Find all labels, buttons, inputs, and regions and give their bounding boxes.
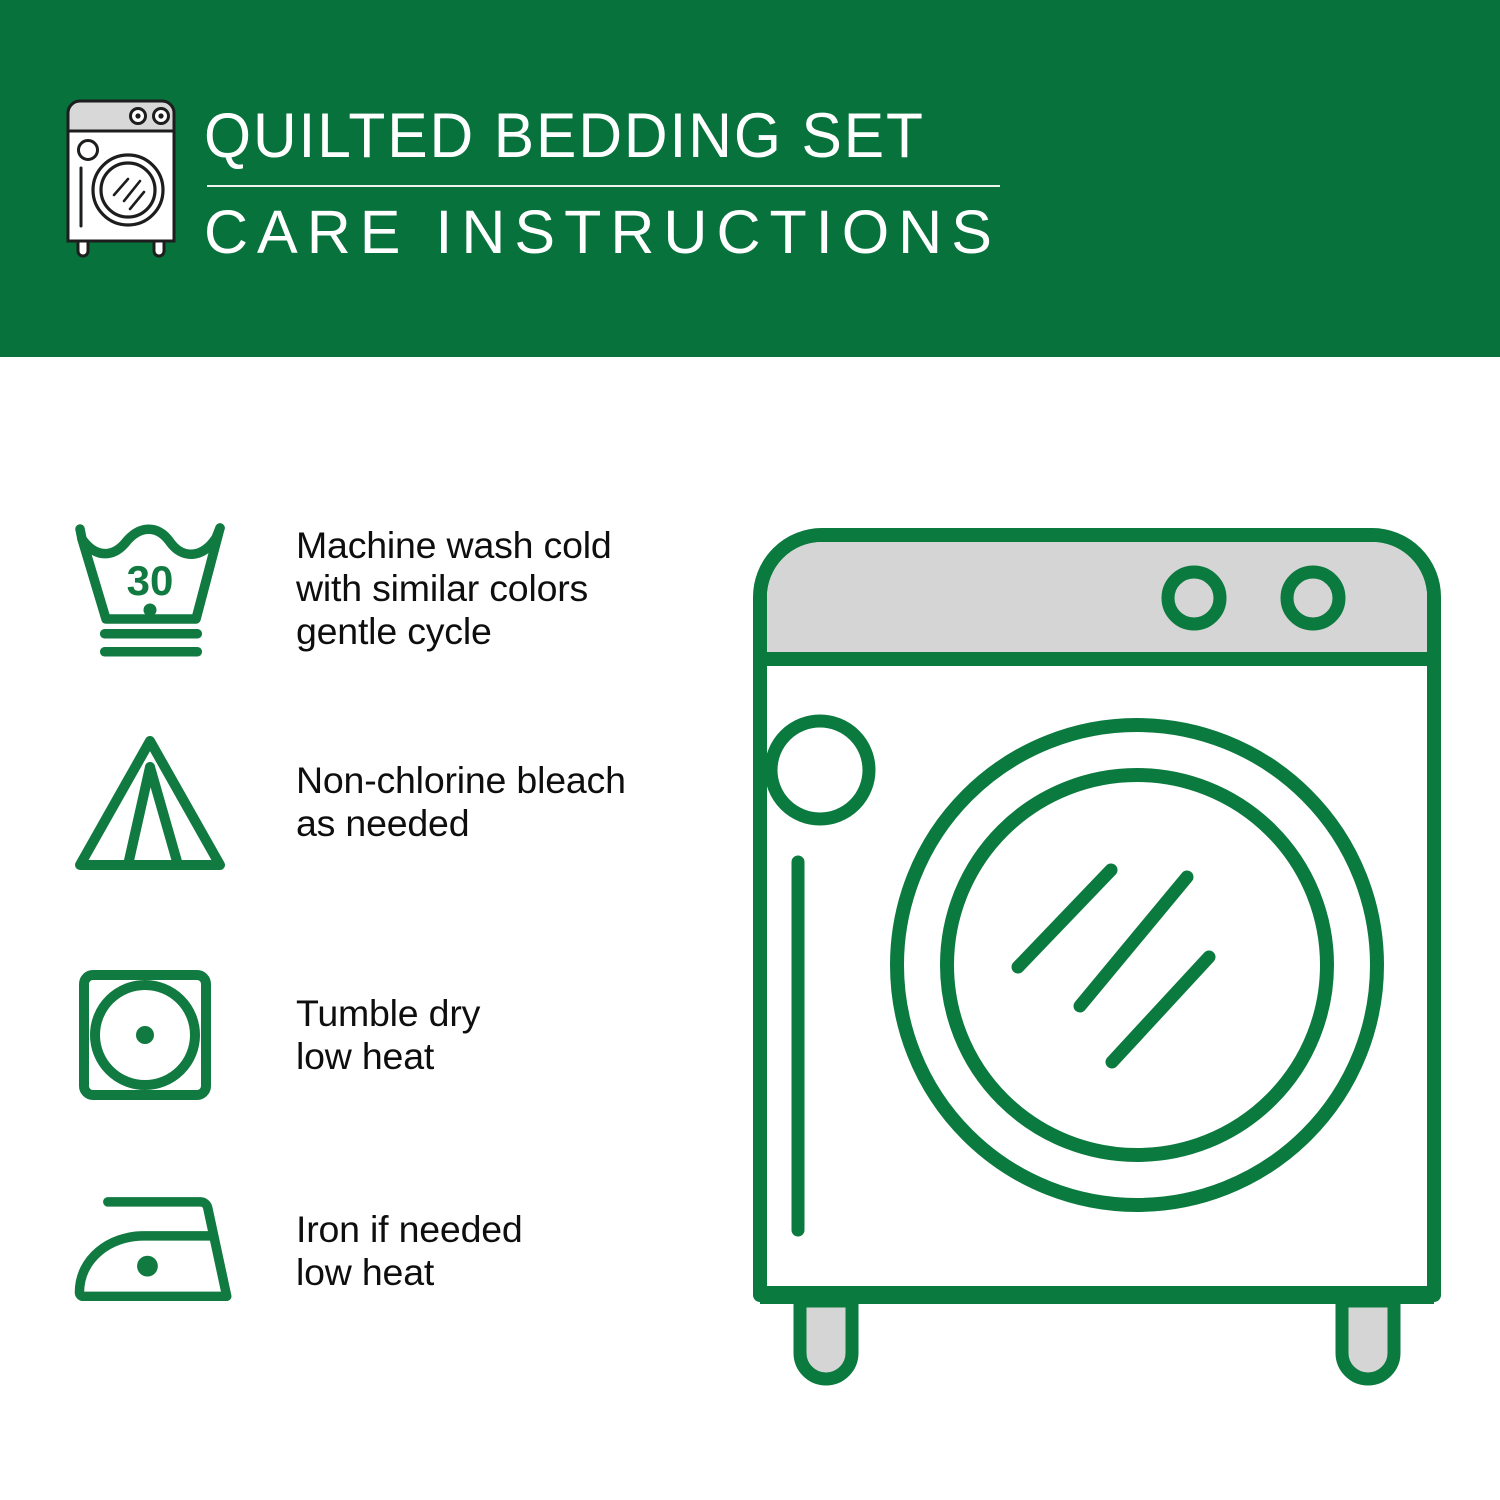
iron-low-heat-icon [70, 1187, 240, 1315]
wash-tub-30-gentle-icon: 30 [70, 515, 240, 661]
list-item-label: Machine wash cold with similar colors ge… [296, 524, 612, 653]
list-item-label: Non-chlorine bleach as needed [296, 759, 626, 845]
header-content: QUILTED BEDDING SET CARE INSTRUCTIONS [62, 95, 1001, 265]
page-title: QUILTED BEDDING SET [204, 101, 969, 171]
tumble-dry-low-heat-icon [70, 965, 240, 1105]
washer-leg-right [1342, 1301, 1394, 1379]
gentle-bar-1 [100, 629, 202, 639]
knob-1[interactable] [1168, 572, 1220, 624]
list-item: Iron if needed low heat [70, 1187, 523, 1315]
page-subtitle: CARE INSTRUCTIONS [204, 199, 1001, 265]
list-item-label: Tumble dry low heat [296, 992, 480, 1078]
care-instructions-list: 30 Machine wash cold with similar colors… [0, 357, 730, 1500]
list-item: Tumble dry low heat [70, 965, 480, 1105]
list-item: Non-chlorine bleach as needed [70, 727, 626, 877]
triangle-non-chlorine-bleach-icon [70, 727, 240, 877]
low-heat-dot [136, 1026, 154, 1044]
care-symbol [70, 727, 240, 877]
care-instructions-poster: QUILTED BEDDING SET CARE INSTRUCTIONS 30 [0, 0, 1500, 1500]
washer-leg-left [800, 1301, 852, 1379]
dispenser-indicator-icon [771, 721, 869, 819]
washing-machine-icon [62, 95, 186, 260]
low-heat-dot [137, 1256, 158, 1277]
gentle-bar-2 [100, 647, 202, 657]
front-load-washing-machine-illustration [742, 495, 1452, 1415]
header-banner: QUILTED BEDDING SET CARE INSTRUCTIONS [0, 0, 1500, 357]
care-symbol [70, 965, 240, 1105]
header-titles: QUILTED BEDDING SET CARE INSTRUCTIONS [204, 95, 1001, 265]
title-divider [207, 185, 1000, 187]
list-item-label: Iron if needed low heat [296, 1208, 523, 1294]
gentle-dot [144, 604, 157, 617]
care-symbol: 30 [70, 515, 240, 661]
wash-temperature-value: 30 [127, 557, 174, 604]
knob-2[interactable] [1287, 572, 1339, 624]
list-item: 30 Machine wash cold with similar colors… [70, 515, 612, 661]
care-symbol [70, 1187, 240, 1315]
